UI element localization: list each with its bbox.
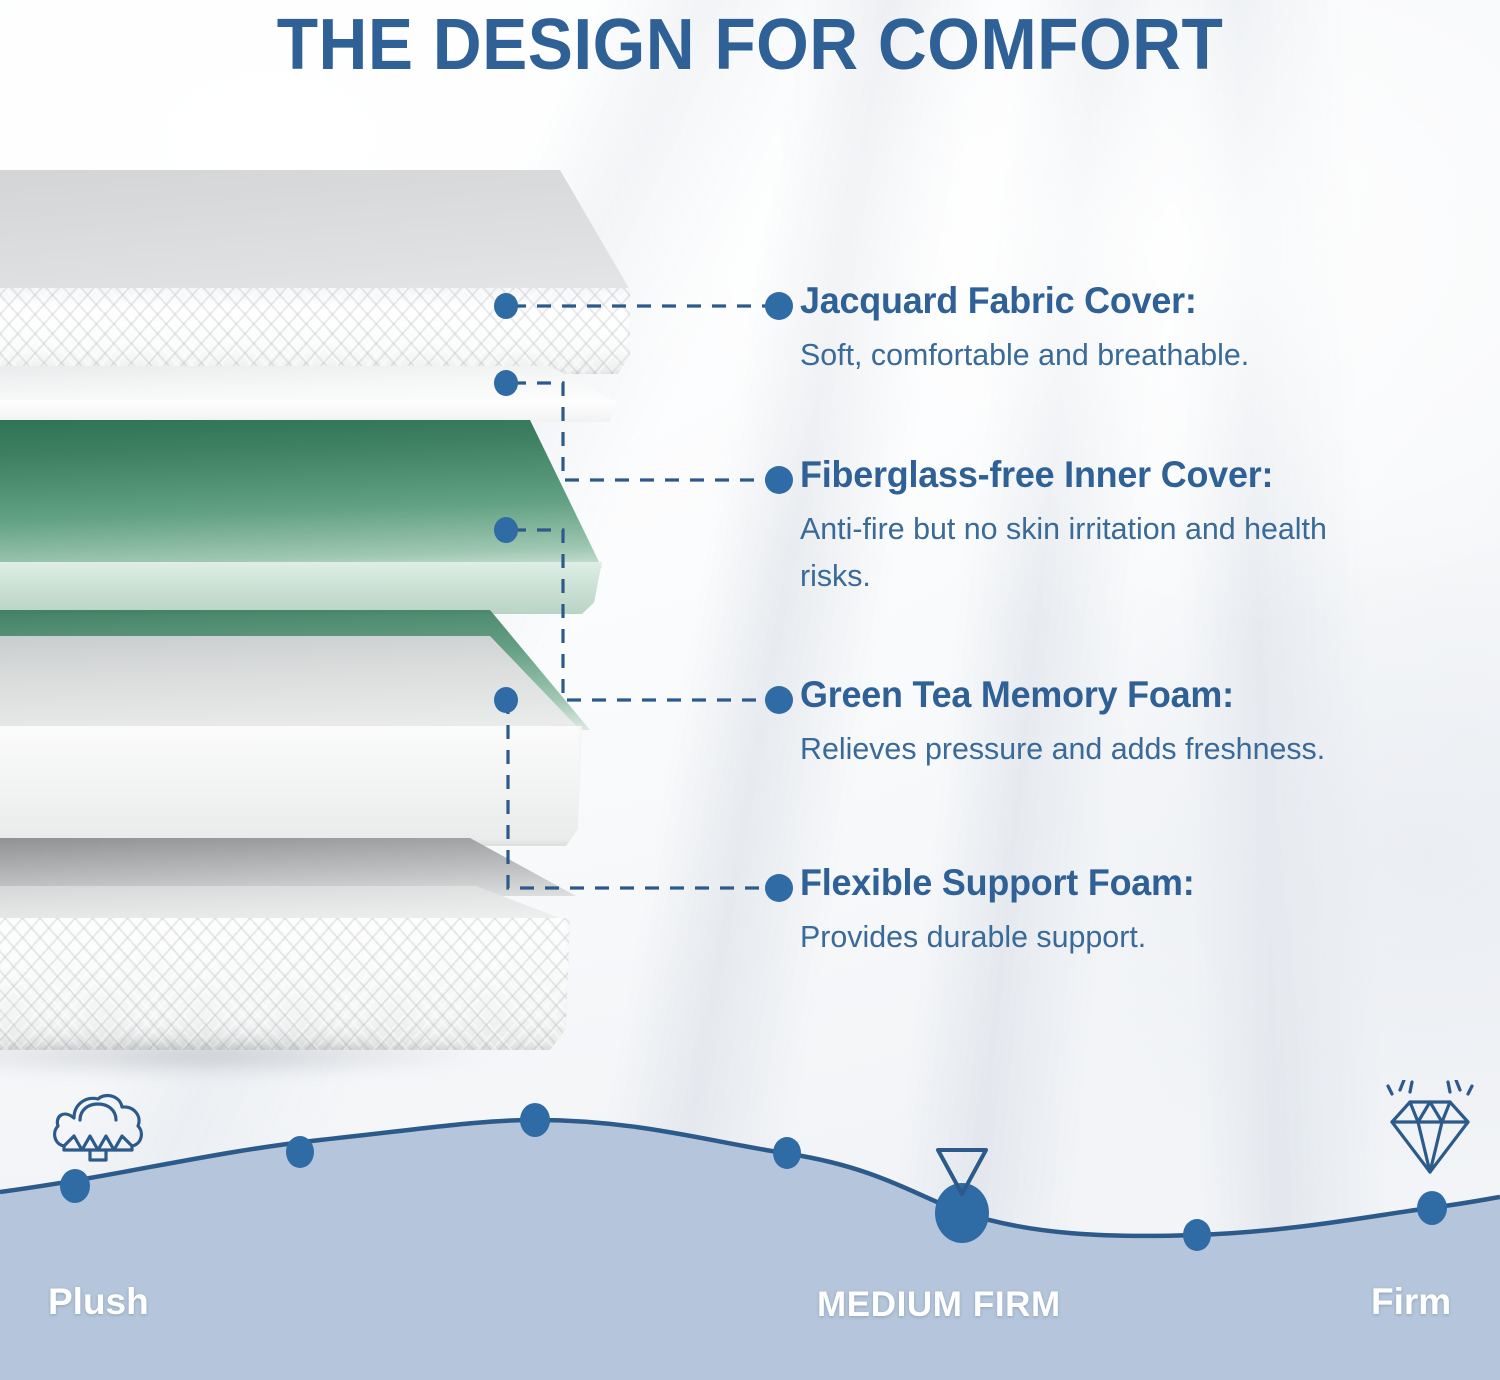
callout-flexible-support-foam: Flexible Support Foam: Provides durable … xyxy=(800,864,1207,960)
firmness-point-1[interactable] xyxy=(60,1169,90,1203)
callout-body: Provides durable support. xyxy=(800,913,1199,960)
callout-heading: Green Tea Memory Foam: xyxy=(800,676,1320,715)
firmness-curve-fill xyxy=(0,1120,1500,1380)
layer-jacquard-fabric-cover-side xyxy=(0,288,630,374)
layer-base-side xyxy=(0,918,570,1050)
callout-heading: Flexible Support Foam: xyxy=(800,864,1195,903)
firmness-label-medium-firm: MEDIUM FIRM xyxy=(817,1285,1061,1325)
cotton-boll-icon xyxy=(55,1096,142,1160)
layer-green-tea-memory-foam-top xyxy=(0,420,602,568)
firmness-label-plush: Plush xyxy=(48,1281,149,1323)
layer-green-tea-memory-foam-side xyxy=(0,562,602,614)
callout-body: Relieves pressure and adds freshness. xyxy=(800,725,1325,772)
quilted-weave-texture xyxy=(0,288,630,374)
base-quilted-weave-texture xyxy=(0,918,570,1050)
firmness-label-firm: Firm xyxy=(1371,1281,1451,1323)
firmness-point-2[interactable] xyxy=(286,1136,314,1168)
diamond-icon xyxy=(1388,1080,1472,1172)
callout-green-tea-memory-foam: Green Tea Memory Foam: Relieves pressure… xyxy=(800,676,1336,772)
firmness-point-7[interactable] xyxy=(1417,1191,1447,1225)
callout-fiberglass-free-inner-cover: Fiberglass-free Inner Cover: Anti-fire b… xyxy=(800,456,1410,599)
page-title: THE DESIGN FOR COMFORT xyxy=(45,4,1455,86)
firmness-curve xyxy=(0,1080,1500,1380)
layer-support-foam-side xyxy=(0,726,582,846)
firmness-point-6[interactable] xyxy=(1183,1219,1211,1251)
layer-support-foam-top xyxy=(0,636,582,732)
firmness-point-3[interactable] xyxy=(520,1103,550,1137)
callout-jacquard-fabric-cover: Jacquard Fabric Cover: Soft, comfortable… xyxy=(800,282,1258,378)
callout-body: Anti-fire but no skin irritation and hea… xyxy=(800,505,1398,599)
layer-inner-cover-top xyxy=(0,366,616,402)
layer-jacquard-fabric-cover-top xyxy=(0,170,630,290)
stack-ground-shadow xyxy=(0,1036,600,1086)
firmness-scale xyxy=(0,1080,1500,1380)
callout-heading: Jacquard Fabric Cover: xyxy=(800,282,1245,321)
callout-heading: Fiberglass-free Inner Cover: xyxy=(800,456,1392,495)
layer-inner-cover-side xyxy=(0,400,616,422)
layer-base-top xyxy=(0,886,570,922)
callout-body: Soft, comfortable and breathable. xyxy=(800,331,1249,378)
mattress-layer-stack xyxy=(0,170,670,1070)
firmness-point-4[interactable] xyxy=(773,1137,801,1169)
infographic-canvas: THE DESIGN FOR COMFORT xyxy=(0,0,1500,1380)
